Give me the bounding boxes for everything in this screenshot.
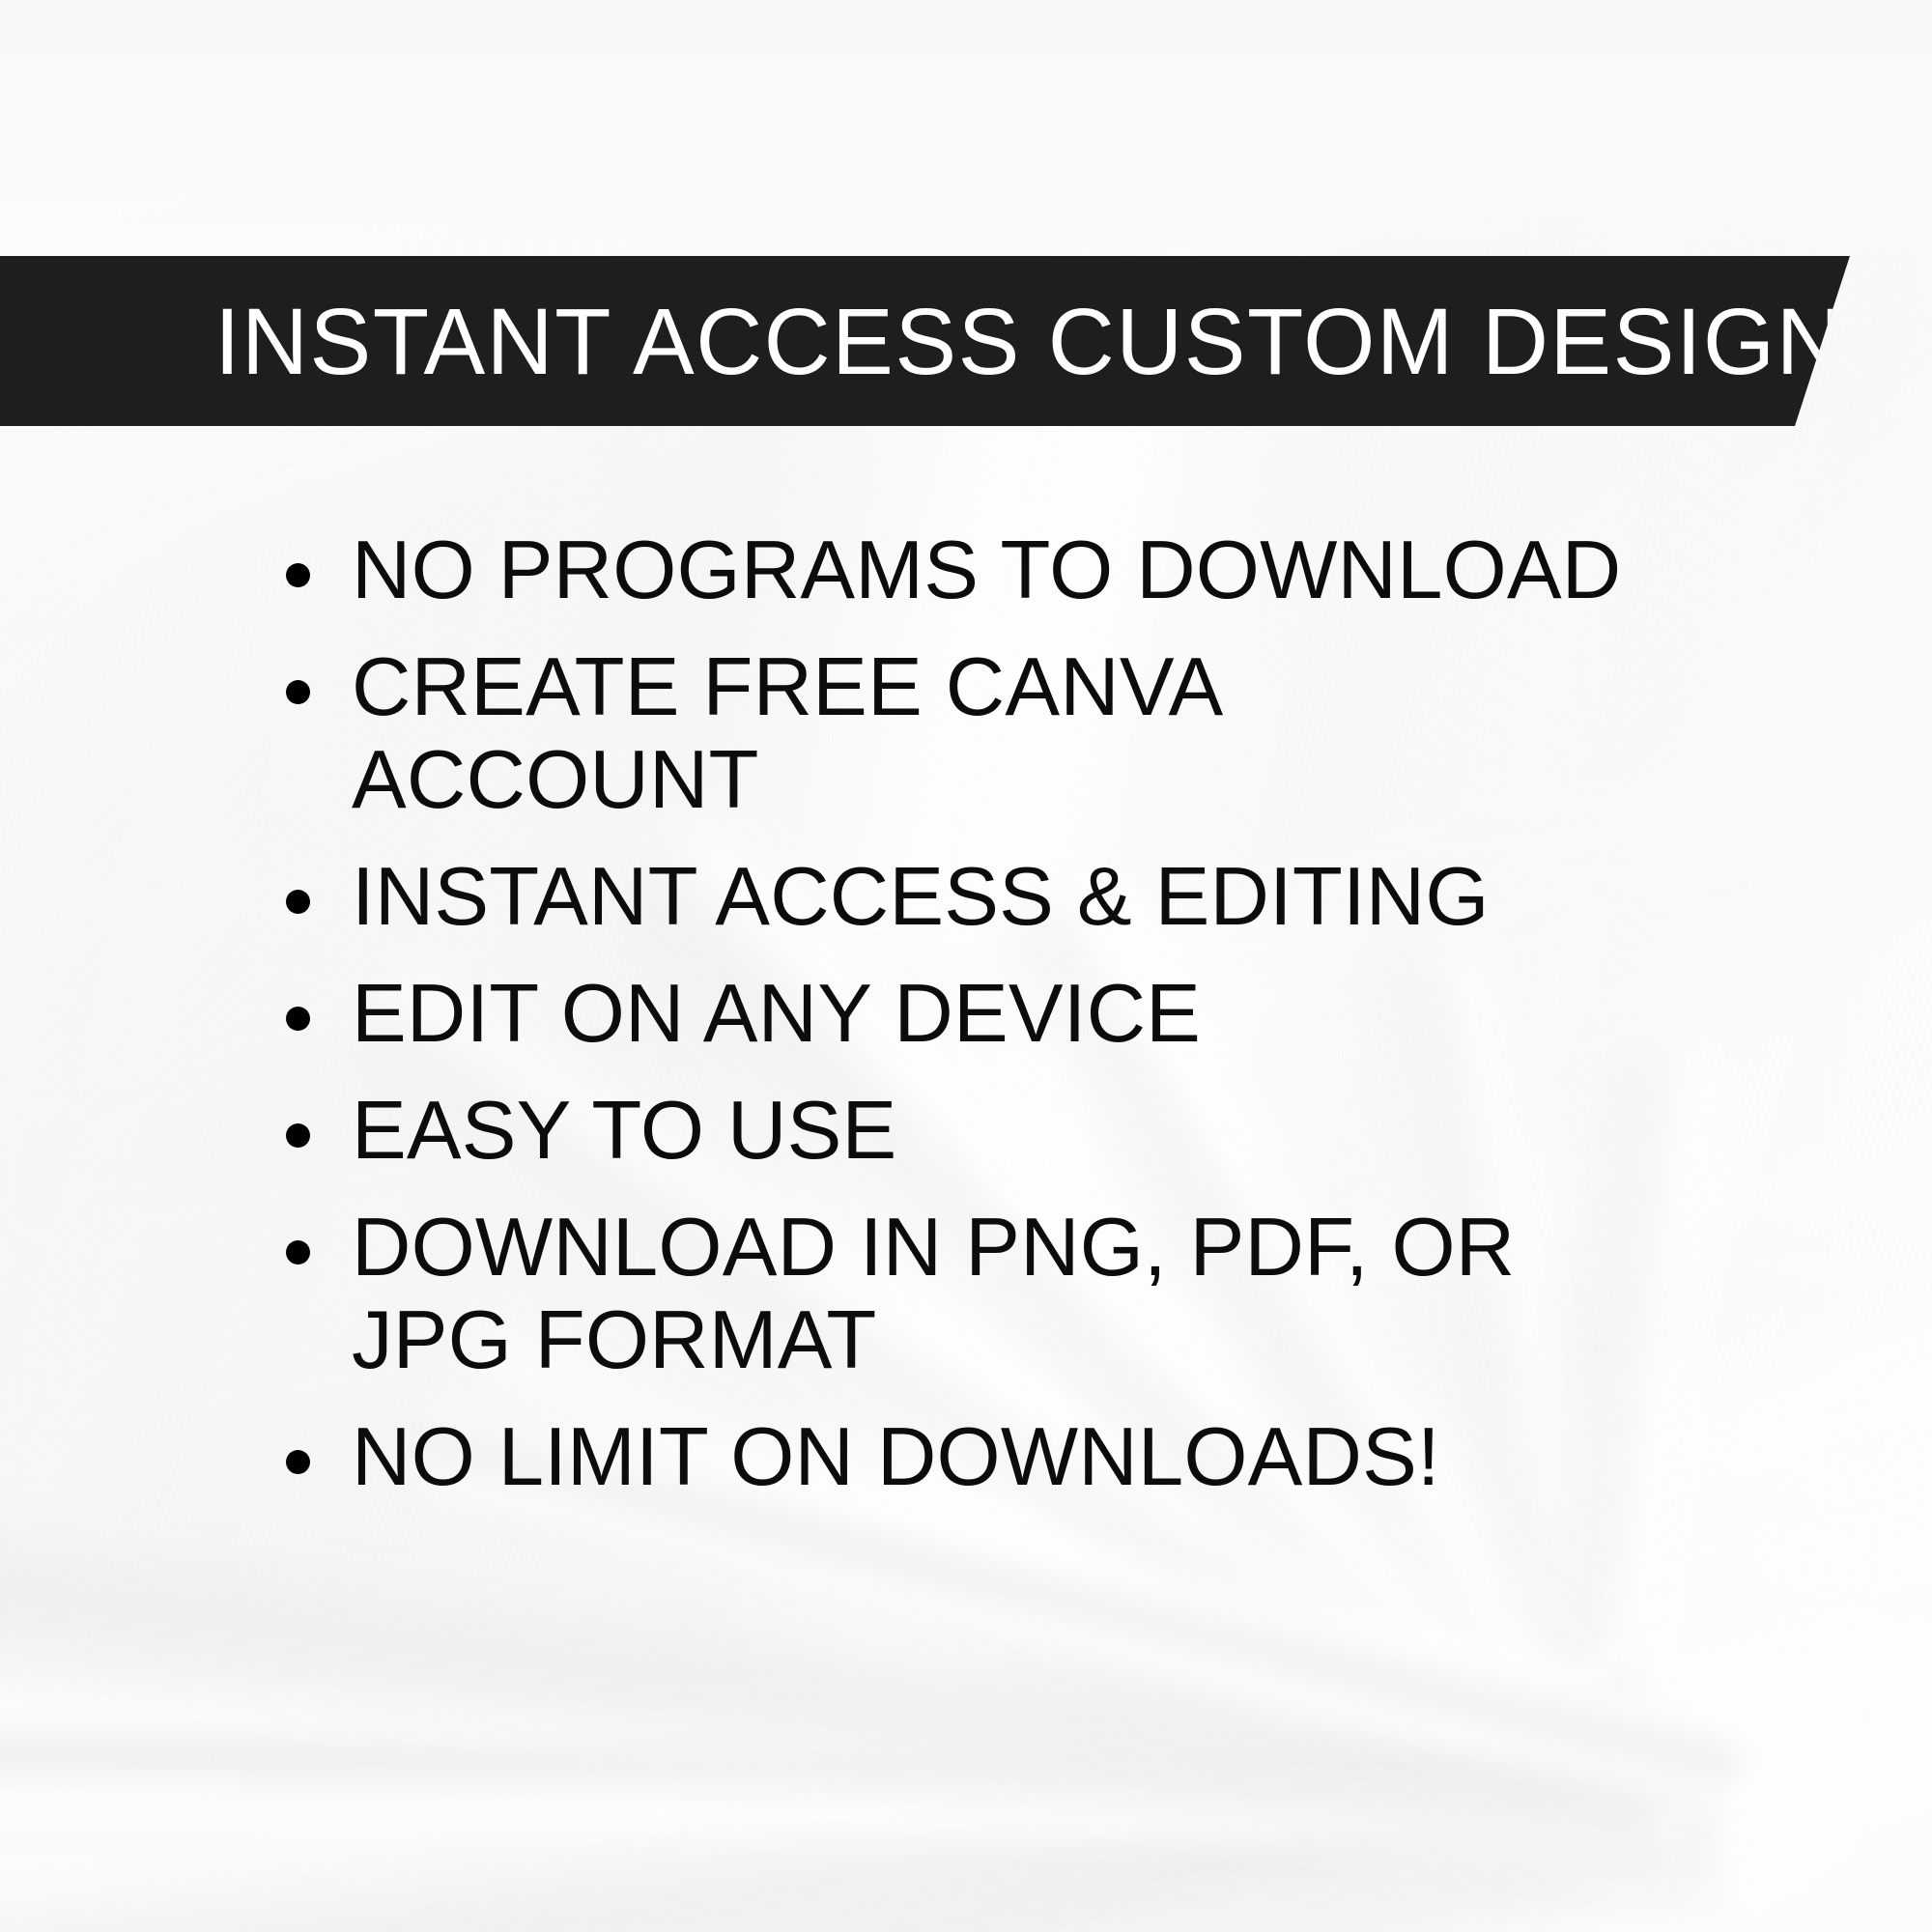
banner-title: INSTANT ACCESS CUSTOM DESIGNS bbox=[214, 295, 1907, 388]
header-banner: INSTANT ACCESS CUSTOM DESIGNS bbox=[0, 256, 1850, 426]
bullet-dot-icon bbox=[286, 890, 310, 914]
bullet-dot-icon bbox=[286, 1123, 310, 1148]
list-item-label: CREATE FREE CANVA ACCOUNT bbox=[352, 641, 1219, 826]
list-item: DOWNLOAD IN PNG, PDF, OR JPG FORMAT bbox=[282, 1202, 1634, 1387]
list-item: EDIT ON ANY DEVICE bbox=[282, 968, 1634, 1061]
list-item: INSTANT ACCESS & EDITING bbox=[282, 851, 1634, 944]
bullet-dot-icon bbox=[286, 1450, 310, 1474]
bullet-dot-icon bbox=[286, 1007, 310, 1031]
list-item-label: EASY TO USE bbox=[352, 1085, 896, 1177]
list-item: NO LIMIT ON DOWNLOADS! bbox=[282, 1411, 1634, 1504]
list-item-label: DOWNLOAD IN PNG, PDF, OR JPG FORMAT bbox=[352, 1202, 1515, 1386]
list-item-label: INSTANT ACCESS & EDITING bbox=[352, 851, 1490, 943]
list-item: CREATE FREE CANVA ACCOUNT bbox=[282, 641, 1634, 827]
list-item: NO PROGRAMS TO DOWNLOAD bbox=[282, 525, 1634, 617]
bullet-dot-icon bbox=[286, 680, 310, 704]
list-item-label: NO LIMIT ON DOWNLOADS! bbox=[352, 1411, 1440, 1503]
feature-list: NO PROGRAMS TO DOWNLOAD CREATE FREE CANV… bbox=[282, 525, 1634, 1504]
bullet-dot-icon bbox=[286, 563, 310, 587]
list-item: EASY TO USE bbox=[282, 1085, 1634, 1178]
listing-graphic-canvas: INSTANT ACCESS CUSTOM DESIGNS NO PROGRAM… bbox=[0, 0, 1932, 1932]
list-item-label: EDIT ON ANY DEVICE bbox=[352, 968, 1201, 1060]
background-top-fade bbox=[0, 0, 1932, 270]
bullet-dot-icon bbox=[286, 1240, 310, 1264]
list-item-label: NO PROGRAMS TO DOWNLOAD bbox=[352, 525, 1621, 616]
